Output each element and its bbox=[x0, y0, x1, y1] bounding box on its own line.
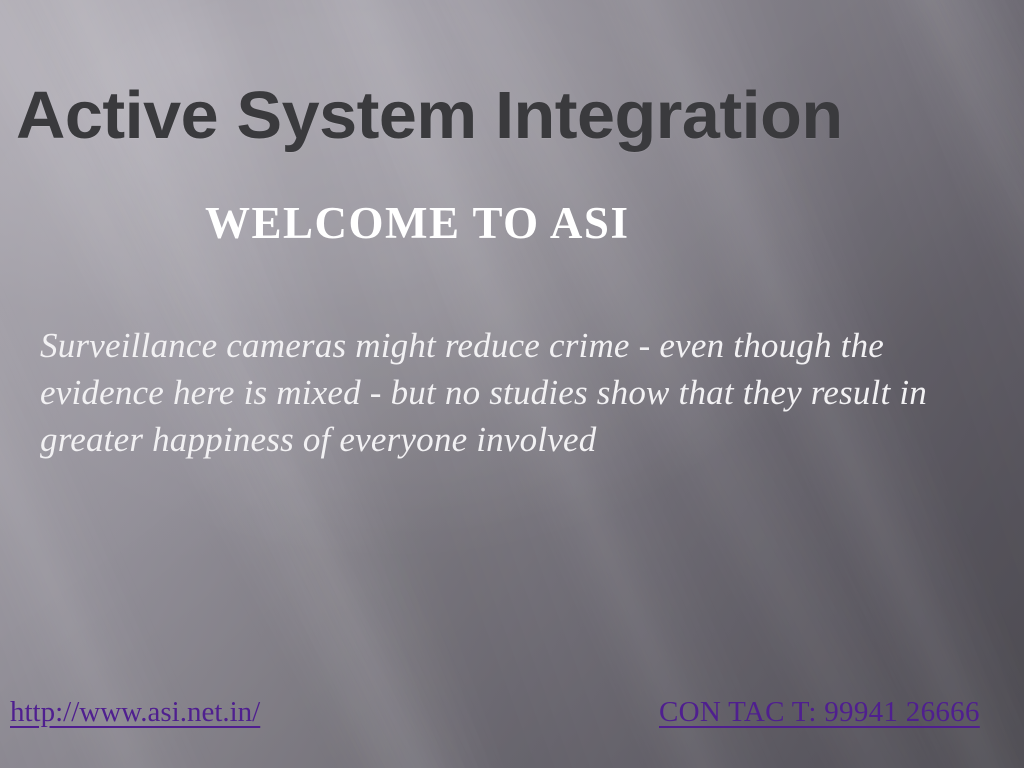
brand-title: Active System Integration bbox=[16, 82, 1024, 149]
slide-content: Active System Integration WELCOME TO ASI… bbox=[0, 0, 1024, 768]
presentation-slide: Active System Integration WELCOME TO ASI… bbox=[0, 0, 1024, 768]
body-paragraph: Surveillance cameras might reduce crime … bbox=[40, 322, 940, 463]
contact-phone-link[interactable]: CON TAC T: 99941 26666 bbox=[659, 698, 980, 727]
website-url-link[interactable]: http://www.asi.net.in/ bbox=[10, 698, 260, 727]
welcome-heading: WELCOME TO ASI bbox=[205, 198, 629, 250]
